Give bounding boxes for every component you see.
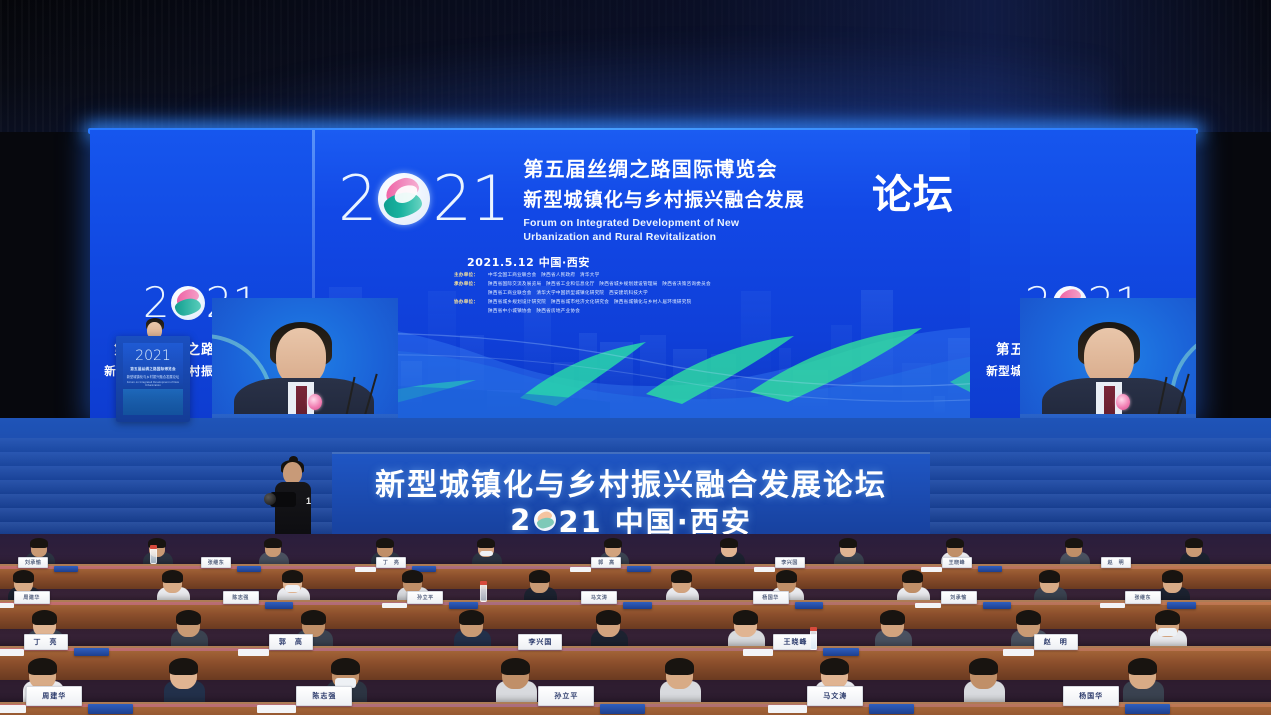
year-lockup: 2 21 [338,162,509,236]
organizer-line: 主办单位：中华全国工商业联合会 陕西省人民政府 清华大学 [454,272,928,281]
audience-hair [946,538,964,548]
audience-hair [13,570,34,583]
podium-year: 2021 [123,348,183,364]
organizer-value: 陕西省中小城镇协会 陕西省房地产业协会 [488,308,580,317]
paper-sheet [382,603,407,608]
name-card: 陈志强 [223,591,259,604]
conference-folder [600,704,645,714]
name-card-text: 张继东 [1134,594,1151,601]
paper-sheet [743,649,774,656]
name-card-text: 郭 高 [279,637,303,647]
stage-front-banner: 新型城镇化与乡村振兴融合发展论坛 2 21 中国·西安 [332,452,930,540]
paper-sheet [915,603,940,608]
conference-folder [823,648,858,656]
name-card-text: 陈志强 [232,594,249,601]
jersey-number: 1 [306,496,311,506]
audience-head [1163,572,1182,593]
name-card-text: 刘承愉 [950,594,967,601]
audience-hair [282,570,303,583]
forum-word: 论坛 [872,162,954,220]
paper-sheet [0,649,24,656]
name-card-text: 马文涛 [823,691,847,701]
name-card-text: 丁 亮 [383,559,400,566]
banner-line-1: 新型城镇化与乡村振兴融合发展论坛 [332,460,930,504]
conference-hall-photo: 2 21 第五届丝绸之路国际博览会 新型城镇化与乡村振兴融合发展论坛 2 [0,0,1271,715]
audience-head [170,660,197,689]
audience-hair [1185,538,1203,548]
audience-hair [1155,610,1180,625]
audience-head [29,660,56,689]
water-bottle [810,630,817,650]
audience-head [163,572,182,593]
organizer-line: 承办单位：陕西省国际交流及展览局 陕西省工业和信息化厅 陕西省城乡规划建设管理局… [454,281,928,290]
title-text-block: 第五届丝绸之路国际博览会 新型城镇化与乡村振兴融合发展 Forum on Int… [523,153,804,245]
audience-hair [839,538,857,548]
organizer-line: 陕西省中小城镇协会 陕西省房地产业协会 [454,308,928,317]
name-card: 刘承愉 [941,591,977,604]
audience-head [265,540,281,557]
audience-hair [1016,610,1041,625]
audience-head [1066,540,1082,557]
conference-folder [54,566,78,572]
audience-head [881,612,904,637]
organizer-line: 协办单位：陕西省城乡规划设计研究院 陕西省城市经济文化研究会 陕西省城镇化与乡村… [454,299,928,308]
name-card: 周建华 [26,686,82,706]
name-card-text: 赵 明 [1108,559,1125,566]
audience-hair [720,538,738,548]
name-card-text: 王晓峰 [949,559,966,566]
name-card: 马文涛 [581,591,617,604]
audience-hair [671,570,692,583]
audience-head [502,660,529,689]
bottle-cap [810,627,817,631]
podium-front-panel: 2021 第五届丝绸之路国际博览会 新型城镇化与乡村振兴融合发展论坛 Forum… [123,343,183,415]
audience-hair [880,610,905,625]
face-mask [480,551,493,557]
event-title-cn-1: 第五届丝绸之路国际博览会 [523,153,777,182]
audience-hair [264,538,282,548]
event-title-cn-2: 新型城镇化与乡村振兴融合发展 [523,185,804,212]
name-card: 郭 高 [591,557,621,568]
audience-hair [501,658,530,675]
name-card-text: 陈志强 [312,691,336,701]
audience-head [332,660,359,689]
audience-hair [402,570,423,583]
audience-hair [459,610,484,625]
name-card: 李兴国 [775,557,805,568]
paper-sheet [921,567,942,572]
paper-sheet [1100,603,1125,608]
paper-sheet [0,705,26,713]
name-card-text: 丁 亮 [34,637,58,647]
audience-hair [376,538,394,548]
paper-sheet [768,705,807,713]
stage-step [0,438,1271,452]
name-card: 丁 亮 [376,557,406,568]
podium-title-2: 新型城镇化与乡村振兴融合发展论坛 [123,374,183,379]
conference-folder [869,704,914,714]
audience-head [1129,660,1156,689]
name-card-text: 李兴国 [528,637,552,647]
name-card: 孙立平 [407,591,443,604]
event-date-location: 2021.5.12 中国·西安 [467,254,590,270]
audience-head [970,660,997,689]
audience-hair [331,658,360,675]
face-mask [285,585,300,592]
audience-head [777,572,796,593]
water-bottle [150,548,157,564]
audience-head [31,540,47,557]
name-card-text: 李兴国 [781,559,798,566]
hall-ceiling [0,0,1271,132]
name-card-text: 郭 高 [598,559,615,566]
speaker-corsage [1116,394,1130,410]
organizer-list: 主办单位：中华全国工商业联合会 陕西省人民政府 清华大学承办单位：陕西省国际交流… [454,272,928,317]
audience-hair [30,538,48,548]
audience-hair [969,658,998,675]
audience-hair [32,610,57,625]
audience-head [377,540,393,557]
conference-folder [237,566,261,572]
audience-hair [665,658,694,675]
expo-emblem-icon [378,173,430,225]
speaker-podium: 2021 第五届丝绸之路国际博览会 新型城镇化与乡村振兴融合发展论坛 Forum… [116,336,190,422]
organizer-value: 陕西省工商业联合会 清华大学中国新型城镇化研究院 西安建筑科技大学 [488,290,648,299]
paper-sheet [257,705,296,713]
face-mask [1158,628,1176,637]
audience-hair [477,538,495,548]
bottle-cap [150,545,157,549]
expo-emblem-icon [171,286,205,320]
audience-head [840,540,856,557]
name-card-text: 杨国华 [762,594,779,601]
conference-folder [449,602,478,609]
conference-folder [74,648,109,656]
audience-hair [1039,570,1060,583]
name-card-text: 孙立平 [417,594,434,601]
speaker-video-feed-right [1020,298,1196,420]
audience-head [530,572,549,593]
organizer-value: 中华全国工商业联合会 陕西省人民政府 清华大学 [488,272,599,281]
audience-hair [529,570,550,583]
name-card: 丁 亮 [24,634,68,650]
paper-sheet [570,567,591,572]
organizer-label: 主办单位： [454,272,488,281]
name-card-text: 王晓峰 [783,637,807,647]
audience-hair [733,610,758,625]
organizer-value: 陕西省城乡规划设计研究院 陕西省城市经济文化研究会 陕西省城镇化与乡村人居环境研… [488,299,691,308]
speaker-video-feed-left [212,298,398,420]
conference-folder [623,602,652,609]
audience-head [1186,540,1202,557]
podium-title-1: 第五届丝绸之路国际博览会 [123,367,183,372]
audience-hair [301,610,326,625]
conference-folder [265,602,294,609]
conference-folder [1125,704,1170,714]
name-card-text: 杨国华 [1079,691,1103,701]
conference-folder [978,566,1002,572]
audience-hair [902,570,923,583]
audience-head [721,540,737,557]
name-card: 王晓峰 [942,557,972,568]
event-title-row: 2 21 第五届丝绸之路国际博览会 新型城镇化与乡村振兴融合发展 Forum o… [338,158,952,240]
audience-head [821,660,848,689]
name-card-text: 刘承愉 [25,559,42,566]
audience-hair [776,570,797,583]
name-card-text: 赵 明 [1044,637,1068,647]
conference-folder [795,602,824,609]
desk-edge-light [0,648,1271,651]
organizer-line: 陕西省工商业联合会 清华大学中国新型城镇化研究院 西安建筑科技大学 [454,290,928,299]
name-card: 杨国华 [753,591,789,604]
paper-sheet [0,603,14,608]
audience-hair [162,570,183,583]
organizer-label: 协办单位： [454,299,488,308]
audience-hair [1162,570,1183,583]
audience-hair [1065,538,1083,548]
conference-folder [88,704,133,714]
conference-folder [1167,602,1196,609]
audience-hair [604,538,622,548]
audience-head [947,540,963,557]
name-card: 李兴国 [518,634,562,650]
audience-hair [28,658,57,675]
expo-emblem-icon [534,509,556,531]
name-card: 赵 明 [1034,634,1078,650]
podium-title-3: Forum on Integrated Development of New U… [123,381,183,387]
name-card: 赵 明 [1101,557,1131,568]
paper-sheet [238,649,269,656]
name-card: 陈志强 [296,686,352,706]
name-card: 张继东 [1125,591,1161,604]
audience-head [460,612,483,637]
audience-head [1156,612,1179,637]
conference-folder [627,566,651,572]
name-card-text: 周建华 [42,691,66,701]
event-title-en: Forum on Integrated Development of New U… [523,217,804,245]
water-bottle [480,584,487,602]
name-card: 孙立平 [538,686,594,706]
name-card-text: 马文涛 [591,594,608,601]
audience-head [14,572,33,593]
audience-head [672,572,691,593]
audience-head [734,612,757,637]
ceiling-light-glow [170,38,1110,134]
paper-sheet [355,567,376,572]
conference-folder [983,602,1012,609]
name-card-text: 张继东 [208,559,225,566]
speaker-corsage [308,394,322,410]
audience-head [403,572,422,593]
main-led-screen: 2 21 第五届丝绸之路国际博览会 新型城镇化与乡村振兴融合发展论坛 2 [90,130,1196,420]
audience-hair [820,658,849,675]
audience-hair [169,658,198,675]
podium-city-graphic [123,389,183,415]
audience-head [903,572,922,593]
audience-head [666,660,693,689]
name-card-text: 孙立平 [554,691,578,701]
name-card: 周建华 [14,591,50,604]
audience-hair [596,610,621,625]
audience-head [597,612,620,637]
audience-head [283,572,302,593]
name-card-text: 周建华 [23,594,40,601]
name-card: 刘承愉 [18,557,48,568]
screen-center-content: 2 21 第五届丝绸之路国际博览会 新型城镇化与乡村振兴融合发展 Forum o… [312,130,970,420]
paper-sheet [754,567,775,572]
organizer-label: 承办单位： [454,281,488,290]
name-card: 郭 高 [269,634,313,650]
name-card: 杨国华 [1063,686,1119,706]
organizer-value: 陕西省国际交流及展览局 陕西省工业和信息化厅 陕西省城乡规划建设管理局 陕西省决… [488,281,711,290]
audience-seating: 刘承愉张继东丁 亮郭 高李兴国王晓峰赵 明周建华陈志强孙立平马文涛杨国华刘承愉张… [0,534,1271,715]
audience-hair [176,610,201,625]
bottle-cap [480,581,487,585]
audience-hair [1128,658,1157,675]
audience-head [478,540,494,557]
paper-sheet [1003,649,1034,656]
audience-head [177,612,200,637]
camera-lens-icon [264,493,276,505]
name-card: 马文涛 [807,686,863,706]
audience-head [605,540,621,557]
name-card: 张继东 [201,557,231,568]
audience-head [1040,572,1059,593]
